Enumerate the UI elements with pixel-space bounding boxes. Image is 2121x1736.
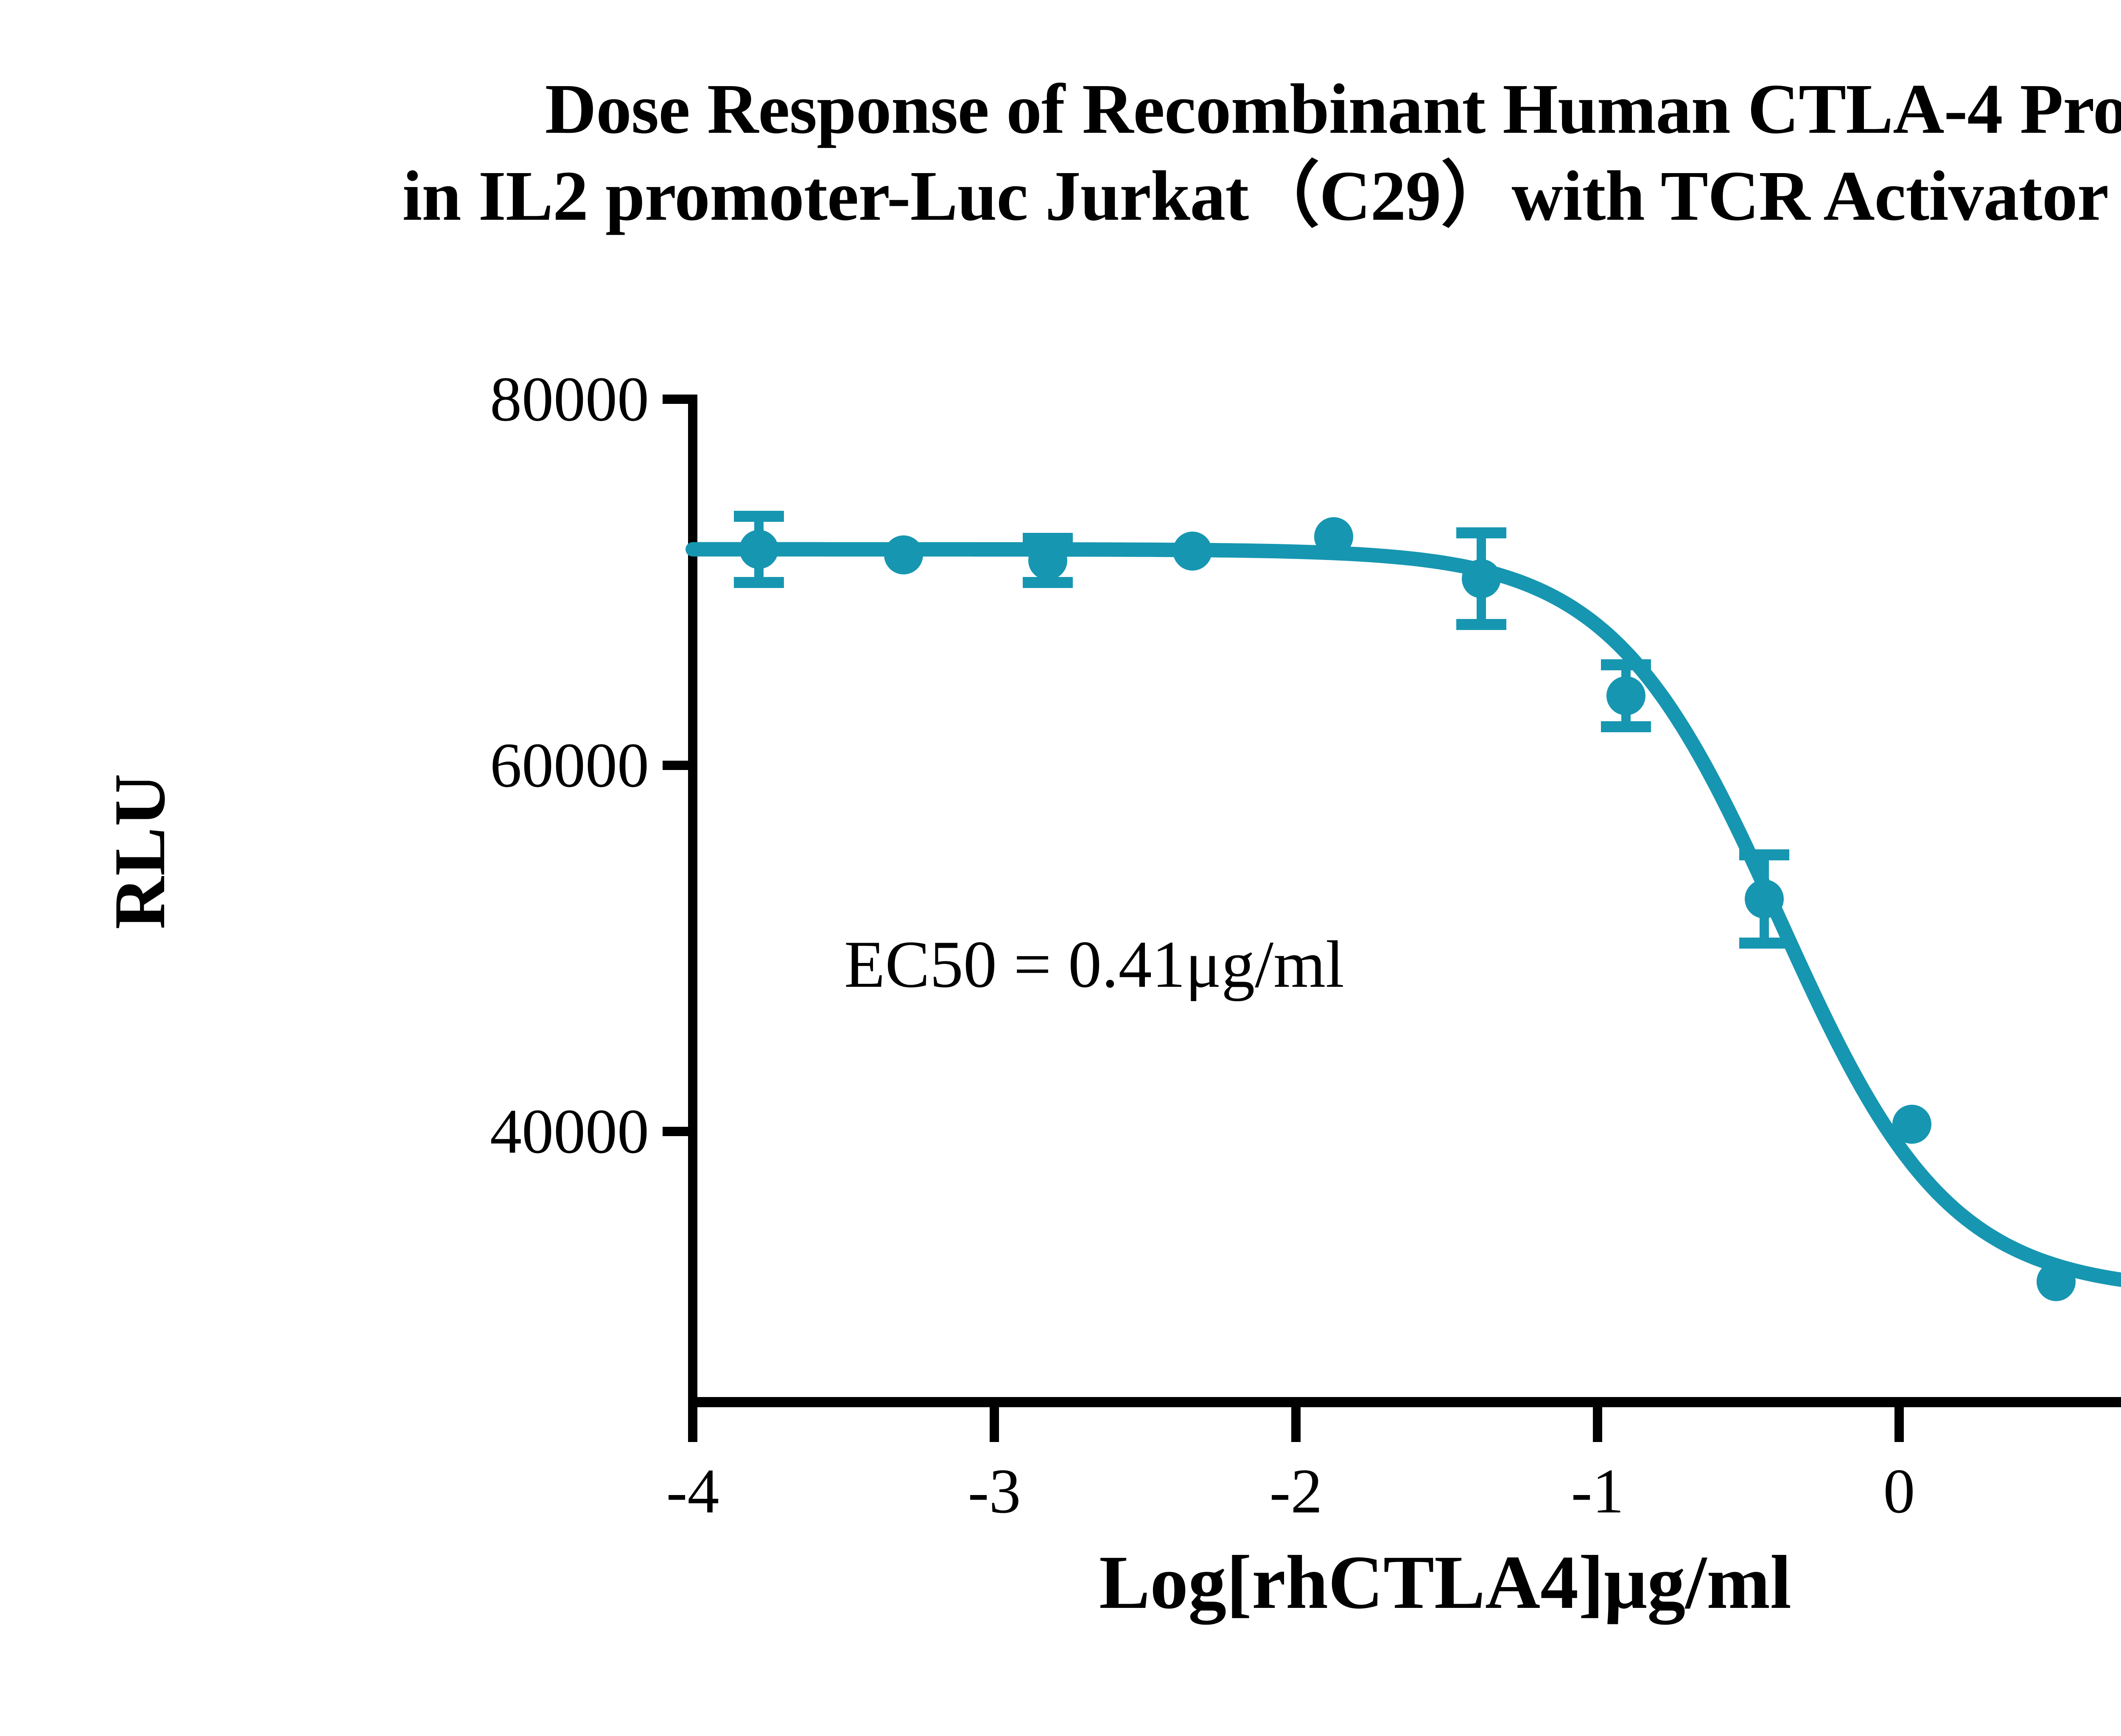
error-bar-cap xyxy=(734,511,784,522)
error-bar-cap xyxy=(1739,849,1789,860)
data-point xyxy=(2037,1262,2076,1301)
error-bar-cap xyxy=(1601,721,1651,732)
fit-curve xyxy=(0,0,2121,1736)
data-point xyxy=(1606,676,1645,715)
data-point xyxy=(884,535,923,574)
data-point xyxy=(739,530,778,569)
data-point xyxy=(1173,532,1212,571)
error-bar-cap xyxy=(1739,938,1789,949)
data-point xyxy=(1745,879,1784,918)
error-bar-cap xyxy=(1601,659,1651,670)
plot-area: 80000 60000 40000 -4 -3 -2 -1 0 1 RLU Lo… xyxy=(0,0,2121,1736)
error-bar-cap xyxy=(734,577,784,588)
data-point xyxy=(1028,541,1067,580)
chart-figure: Dose Response of Recombinant Human CTLA-… xyxy=(0,0,2121,1736)
error-bar-cap xyxy=(1456,619,1506,630)
error-bar-cap xyxy=(1456,527,1506,538)
data-point xyxy=(1892,1105,1931,1144)
data-point xyxy=(1462,559,1501,598)
data-point xyxy=(1314,517,1353,556)
fit-curve-path xyxy=(693,549,2121,1288)
